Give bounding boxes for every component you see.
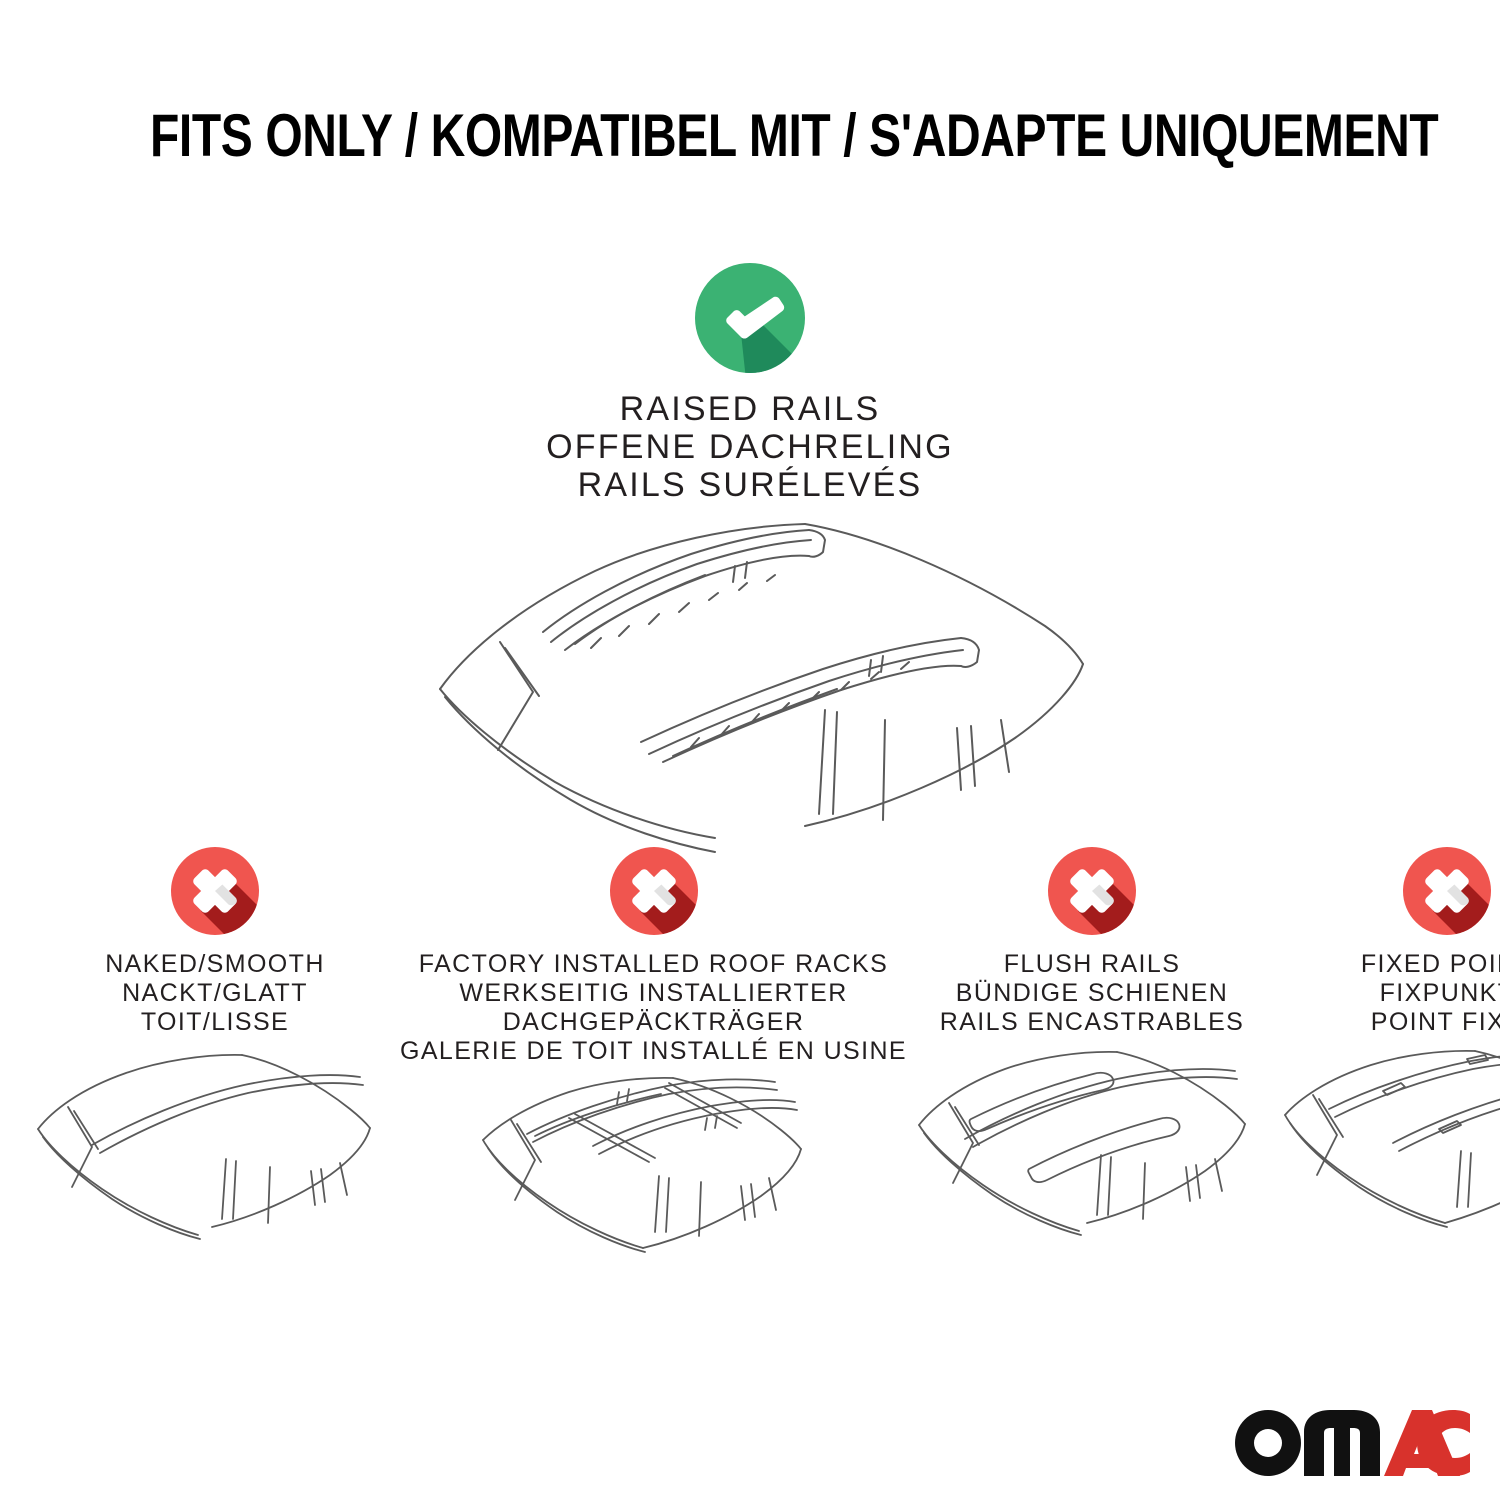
caption-line-2: FIXPUNKT	[1361, 979, 1500, 1008]
x-circle-icon	[1047, 846, 1137, 936]
x-circle-icon	[609, 846, 699, 936]
compatible-section: RAISED RAILS OFFENE DACHRELING RAILS SUR…	[0, 262, 1500, 504]
car-roof-naked-smooth-illustration	[30, 1047, 400, 1277]
caption-line-1: FLUSH RAILS	[940, 950, 1244, 979]
caption-line-2: WERKSEITIG INSTALLIERTER	[400, 979, 907, 1008]
compatible-caption: RAISED RAILS OFFENE DACHRELING RAILS SUR…	[546, 390, 954, 504]
compatible-caption-line-3: RAILS SURÉLEVÉS	[546, 466, 954, 504]
incompatible-item-naked-smooth: NAKED/SMOOTH NACKT/GLATT TOIT/LISSE	[30, 846, 400, 1277]
caption-line-3: DACHGEPÄCKTRÄGER	[400, 1008, 907, 1037]
compatible-caption-line-2: OFFENE DACHRELING	[546, 428, 954, 466]
incompatible-item-fixed-point: FIXED POINT FIXPUNKT POINT FIXE	[1277, 846, 1500, 1277]
car-roof-factory-roof-rack-illustration	[469, 1076, 839, 1306]
caption-line-1: NAKED/SMOOTH	[105, 950, 325, 979]
car-roof-flush-rails-illustration	[907, 1047, 1277, 1277]
check-circle-icon	[694, 262, 806, 374]
caption-line-1: FACTORY INSTALLED ROOF RACKS	[400, 950, 907, 979]
caption-line-2: BÜNDIGE SCHIENEN	[940, 979, 1244, 1008]
car-roof-fixed-point-illustration	[1277, 1047, 1500, 1277]
car-roof-with-raised-rails-illustration	[405, 514, 1095, 844]
incompatible-caption-factory-roof-rack: FACTORY INSTALLED ROOF RACKS WERKSEITIG …	[400, 950, 907, 1066]
caption-line-3: RAILS ENCASTRABLES	[940, 1008, 1244, 1037]
incompatible-caption-flush-rails: FLUSH RAILS BÜNDIGE SCHIENEN RAILS ENCAS…	[940, 950, 1244, 1037]
caption-line-3: TOIT/LISSE	[105, 1008, 325, 1037]
x-circle-icon	[170, 846, 260, 936]
page-title: FITS ONLY / KOMPATIBEL MIT / S'ADAPTE UN…	[150, 104, 1350, 168]
omac-logo	[1232, 1406, 1476, 1480]
caption-line-3: POINT FIXE	[1361, 1008, 1500, 1037]
x-circle-icon	[1402, 846, 1492, 936]
caption-line-1: FIXED POINT	[1361, 950, 1500, 979]
caption-line-4: GALERIE DE TOIT INSTALLÉ EN USINE	[400, 1037, 907, 1066]
incompatible-row: NAKED/SMOOTH NACKT/GLATT TOIT/LISSE	[30, 846, 1470, 1306]
compatible-caption-line-1: RAISED RAILS	[546, 390, 954, 428]
incompatible-caption-fixed-point: FIXED POINT FIXPUNKT POINT FIXE	[1361, 950, 1500, 1037]
incompatible-item-factory-roof-rack: FACTORY INSTALLED ROOF RACKS WERKSEITIG …	[400, 846, 907, 1306]
caption-line-2: NACKT/GLATT	[105, 979, 325, 1008]
incompatible-caption-naked-smooth: NAKED/SMOOTH NACKT/GLATT TOIT/LISSE	[105, 950, 325, 1037]
incompatible-item-flush-rails: FLUSH RAILS BÜNDIGE SCHIENEN RAILS ENCAS…	[907, 846, 1277, 1277]
